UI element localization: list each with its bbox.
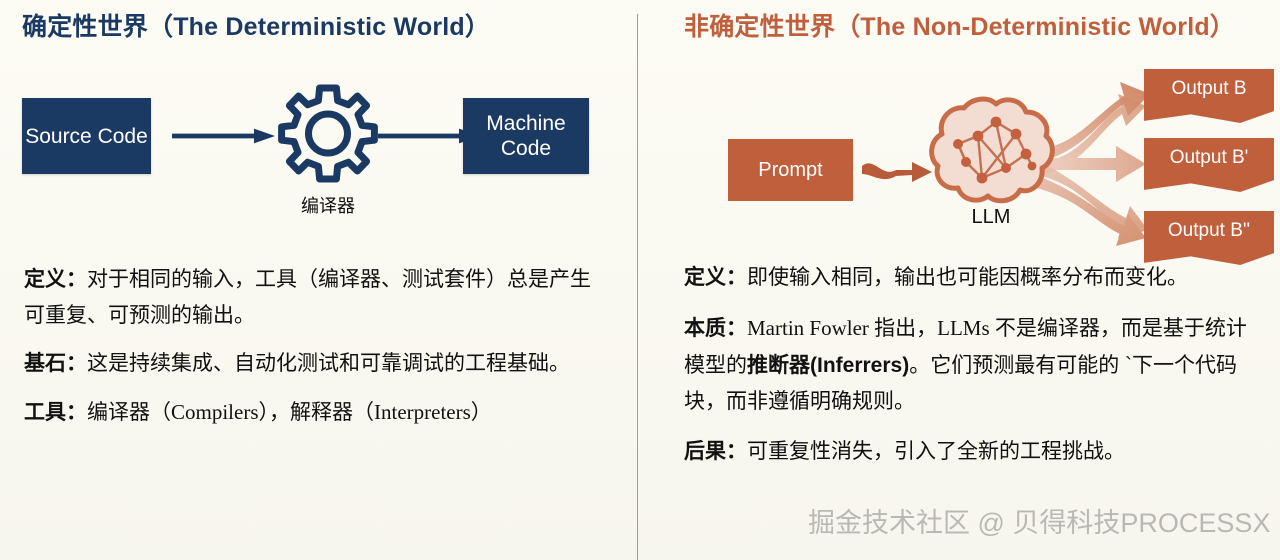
machine-code-box: Machine Code: [463, 98, 589, 174]
source-code-box: Source Code: [22, 98, 151, 174]
right-body-text: 定义：即使输入相同，输出也可能因概率分布而变化。 本质：Martin Fowle…: [684, 260, 1258, 470]
left-item-definition-text: 对于相同的输入，工具（编译器、测试套件）总是产生可重复、可预测的输出。: [24, 268, 591, 327]
right-item-essence-label: 本质：: [684, 317, 747, 340]
comparison-slide: 确定性世界（The Deterministic World） Source Co…: [0, 0, 1280, 560]
gear-icon: [278, 82, 378, 190]
output-box-b-double-prime: Output B'': [1144, 211, 1274, 265]
left-panel: 确定性世界（The Deterministic World） Source Co…: [0, 0, 640, 560]
right-panel: 非确定性世界（The Non-Deterministic World）: [640, 0, 1280, 560]
output-box-b-prime: Output B': [1144, 138, 1274, 192]
right-item-definition: 定义：即使输入相同，输出也可能因概率分布而变化。: [684, 260, 1254, 296]
right-item-definition-label: 定义：: [684, 266, 747, 289]
arrow-right-icon-1: [172, 128, 275, 144]
right-heading: 非确定性世界（The Non-Deterministic World）: [684, 0, 1258, 44]
right-item-consequence-label: 后果：: [684, 440, 747, 463]
left-item-definition: 定义：对于相同的输入，工具（编译器、测试套件）总是产生可重复、可预测的输出。: [24, 262, 602, 334]
right-item-consequence-text: 可重复性消失，引入了全新的工程挑战。: [747, 440, 1125, 463]
llm-brain-icon: [926, 92, 1056, 210]
deterministic-diagram: Source Code 编译器 M: [22, 66, 618, 256]
right-item-essence: 本质：Martin Fowler 指出，LLMs 不是编译器，而是基于统计模型的…: [684, 310, 1254, 420]
right-item-definition-text: 即使输入相同，输出也可能因概率分布而变化。: [747, 266, 1188, 289]
left-heading: 确定性世界（The Deterministic World）: [22, 0, 618, 44]
right-item-consequence: 后果：可重复性消失，引入了全新的工程挑战。: [684, 434, 1254, 470]
gear-label: 编译器: [268, 192, 388, 218]
nondeterministic-diagram: Prompt: [684, 54, 1258, 254]
left-body-text: 定义：对于相同的输入，工具（编译器、测试套件）总是产生可重复、可预测的输出。 基…: [22, 262, 618, 431]
squiggle-arrow-icon: [860, 154, 936, 188]
left-item-cornerstone-text: 这是持续集成、自动化测试和可靠调试的工程基础。: [87, 352, 570, 375]
left-item-cornerstone: 基石：这是持续集成、自动化测试和可靠调试的工程基础。: [24, 346, 602, 382]
left-item-tools-label: 工具：: [24, 401, 87, 424]
right-item-essence-bold: 推断器(Inferrers): [747, 354, 909, 377]
output-box-b: Output B: [1144, 69, 1274, 123]
left-item-tools-text: 编译器（Compilers），解释器（Interpreters）: [87, 400, 492, 424]
prompt-box: Prompt: [728, 139, 853, 201]
left-item-definition-label: 定义：: [24, 268, 87, 291]
left-item-tools: 工具：编译器（Compilers），解释器（Interpreters）: [24, 394, 602, 431]
left-item-cornerstone-label: 基石：: [24, 352, 87, 375]
llm-label: LLM: [916, 206, 1066, 229]
